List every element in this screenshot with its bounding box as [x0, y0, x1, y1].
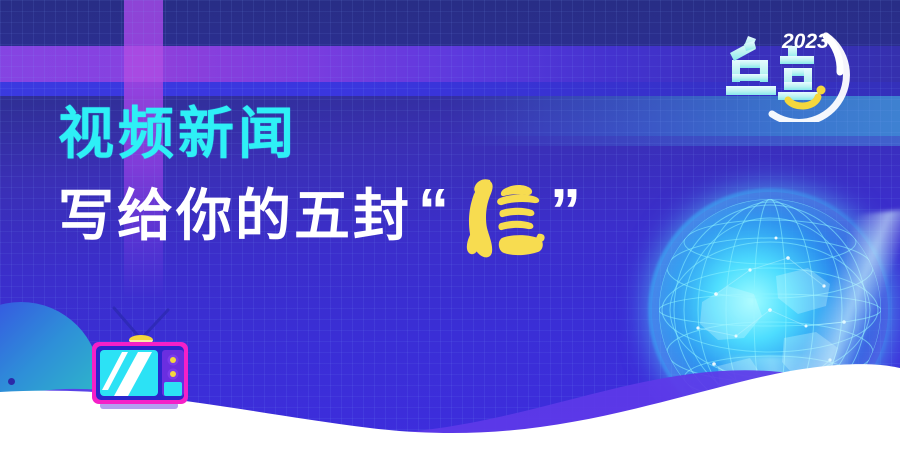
headline-line-1: 视频新闻	[58, 104, 718, 164]
headline-line-2: 写给你的五封 “ 信	[58, 174, 718, 258]
tv-speaker	[164, 382, 182, 396]
quote-open-mark: “	[418, 192, 452, 232]
headline-block: 视频新闻 写给你的五封 “ 信	[58, 104, 718, 258]
tv-knob-2	[170, 371, 176, 377]
logo-char-dian	[778, 46, 818, 100]
background-column-highlight	[124, 46, 163, 82]
logo-yellow-dot	[817, 86, 826, 95]
quote-close-mark: ”	[550, 192, 584, 232]
video-news-banner: 视频新闻 写给你的五封 “ 信	[0, 0, 900, 458]
tv-knob-1	[170, 357, 176, 363]
tv-antenna	[114, 308, 168, 338]
brush-character-xin: 信	[454, 176, 546, 260]
headline-line-2-text: 写给你的五封	[58, 185, 412, 247]
logo-char-pan	[726, 36, 776, 95]
retro-tv-icon	[88, 306, 194, 414]
year-review-logo: 2023	[722, 22, 854, 122]
